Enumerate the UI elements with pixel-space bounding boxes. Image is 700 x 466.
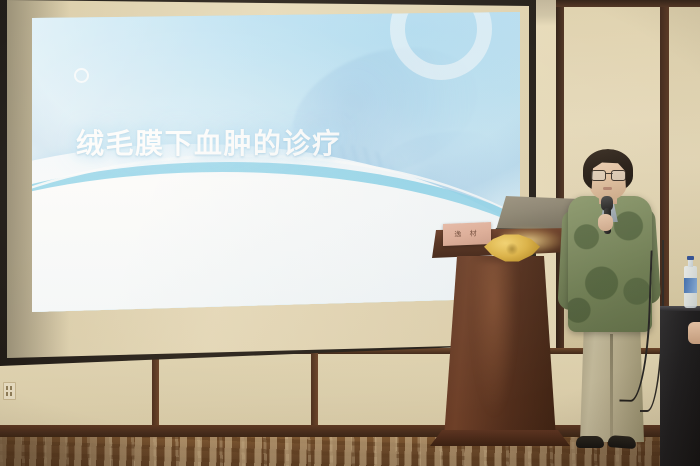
slide-title: 绒毛膜下血肿的诊疗 — [76, 122, 406, 162]
podium-body-highlight — [470, 262, 518, 422]
wall-panel-top-rail — [556, 0, 700, 7]
nameplate-text: 逸 材 — [454, 228, 479, 239]
dado-divider-1 — [152, 352, 159, 430]
glasses-lens-left — [591, 170, 606, 181]
bottle-label — [684, 278, 697, 293]
projected-slide: 绒毛膜下血肿的诊疗 — [32, 12, 520, 312]
podium-base — [430, 430, 570, 446]
bottle-cap — [687, 256, 694, 260]
dado-divider-2 — [311, 352, 318, 430]
glasses-lens-right — [611, 170, 626, 181]
power-outlet-icon — [3, 382, 16, 400]
speaker-hand — [598, 214, 613, 231]
speaker-trouser-seam — [610, 334, 613, 438]
speaker-shoe-left — [576, 436, 604, 448]
glasses-icon — [591, 170, 626, 179]
audience-hand — [688, 322, 700, 344]
speaker-shoe-right — [608, 435, 637, 449]
emblem-engraving — [504, 243, 520, 255]
ring-outline-icon-small — [74, 68, 89, 83]
presentation-photo-scene: 绒毛膜下血肿的诊疗 逸 材 — [0, 0, 700, 466]
gold-lotus-emblem-icon — [484, 232, 540, 264]
speaker-mouth — [603, 187, 612, 190]
water-bottle-icon — [684, 256, 697, 308]
